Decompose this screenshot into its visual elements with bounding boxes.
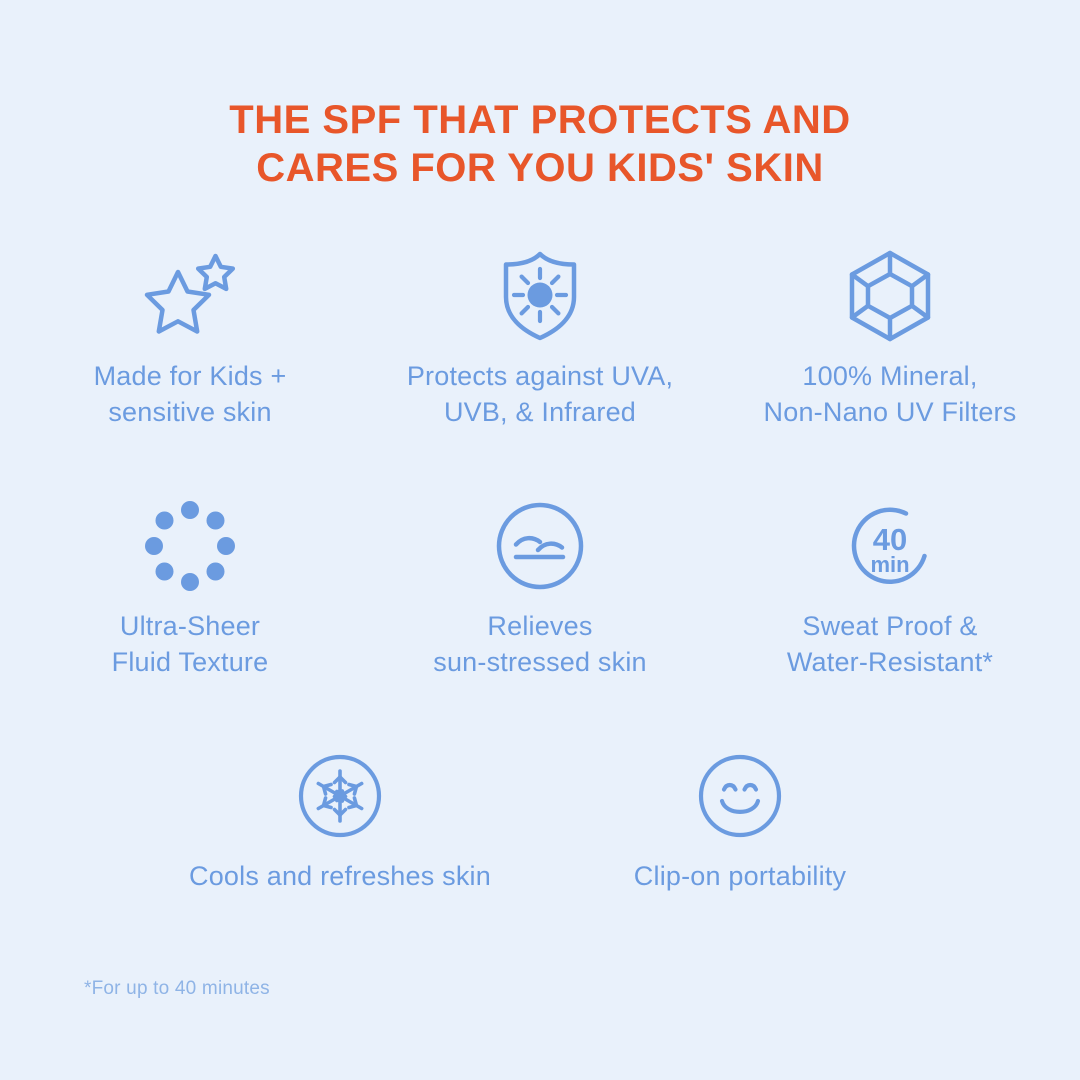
- feature-item-clip-on-portability: Clip-on portability: [540, 748, 940, 894]
- feature-item-relieves-sun-stress: Relieves sun-stressed skin: [365, 498, 715, 680]
- feature-item-made-for-kids: Made for Kids + sensitive skin: [15, 248, 365, 430]
- forty-min-unit: min: [870, 552, 909, 577]
- feature-item-mineral-filters: 100% Mineral, Non-Nano UV Filters: [715, 248, 1065, 430]
- feature-label: Made for Kids + sensitive skin: [94, 358, 287, 430]
- feature-label: Protects against UVA, UVB, & Infrared: [407, 358, 673, 430]
- feature-row-2: Ultra-Sheer Fluid Texture Relieves sun-s…: [0, 498, 1080, 680]
- feature-item-cools-refreshes: Cools and refreshes skin: [140, 748, 540, 894]
- feature-label: Relieves sun-stressed skin: [433, 608, 646, 680]
- feature-row-1: Made for Kids + sensitive skin: [0, 248, 1080, 430]
- infographic-page: THE SPF THAT PROTECTS AND CARES FOR YOU …: [0, 0, 1080, 1080]
- feature-item-ultra-sheer: Ultra-Sheer Fluid Texture: [15, 498, 365, 680]
- feature-item-sweat-water-resistant: 40 min Sweat Proof & Water-Resistant*: [715, 498, 1065, 680]
- page-title: THE SPF THAT PROTECTS AND CARES FOR YOU …: [0, 96, 1080, 192]
- page-title-line-1: THE SPF THAT PROTECTS AND: [0, 96, 1080, 144]
- mineral-gem-icon: [844, 248, 936, 344]
- waves-circle-icon: [495, 498, 585, 594]
- snowflake-circle-icon: [297, 748, 383, 844]
- footnote-text: *For up to 40 minutes: [84, 978, 270, 1000]
- shield-sun-icon: [498, 248, 582, 344]
- feature-label: Sweat Proof & Water-Resistant*: [787, 608, 993, 680]
- feature-label: Ultra-Sheer Fluid Texture: [112, 608, 269, 680]
- feature-row-3: Cools and refreshes skin Clip-on portabi…: [0, 748, 1080, 894]
- feature-label: 100% Mineral, Non-Nano UV Filters: [764, 358, 1017, 430]
- feature-label: Clip-on portability: [634, 858, 846, 894]
- smiley-circle-icon: [697, 748, 783, 844]
- double-star-icon: [140, 248, 240, 344]
- forty-min-icon: 40 min: [844, 498, 936, 594]
- page-title-line-2: CARES FOR YOU KIDS' SKIN: [0, 144, 1080, 192]
- feature-item-protects-uva-uvb: Protects against UVA, UVB, & Infrared: [365, 248, 715, 430]
- feature-label: Cools and refreshes skin: [189, 858, 491, 894]
- dot-ring-icon: [145, 498, 235, 594]
